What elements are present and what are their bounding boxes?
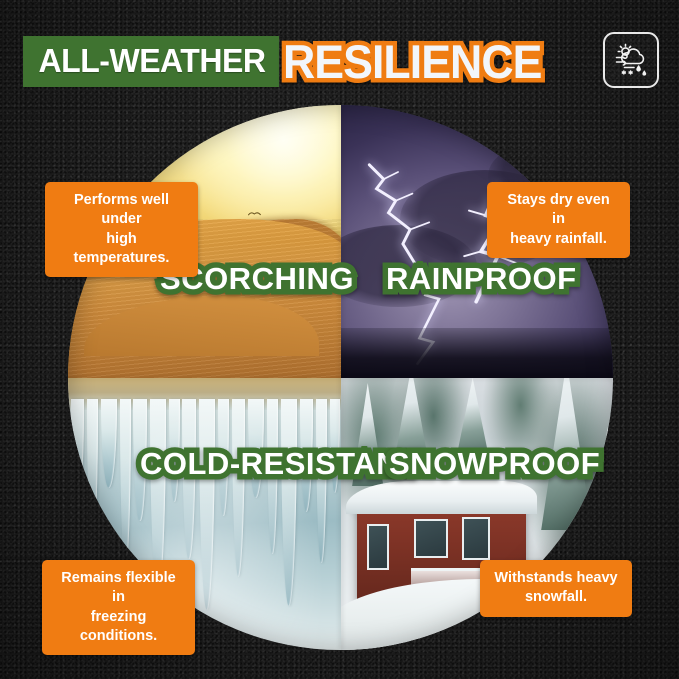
cabin-window [414, 519, 448, 558]
cabin-window [367, 524, 389, 569]
callout-snowproof: Withstands heavy snowfall. [480, 560, 632, 617]
header-title-secondary: RESILIENCE [283, 38, 541, 85]
infographic-canvas: ALL-WEATHER RESILIENCE [0, 0, 679, 679]
quadrant-label-rainproof: RAINPROOF [386, 263, 577, 294]
storm-treeline [341, 328, 614, 377]
weather-badge [603, 32, 659, 88]
callout-scorching: Performs well under high temperatures. [45, 182, 198, 277]
cabin-snow-roof [346, 481, 537, 514]
quadrant-label-cold-resistant: COLD-RESISTANT [140, 448, 419, 479]
quadrant-label-snowproof: SNOWPROOF [389, 448, 600, 479]
sun-cloud-rain-snow-wind-icon [611, 40, 651, 80]
header-title-primary: ALL-WEATHER [23, 36, 279, 87]
header-banner: ALL-WEATHER RESILIENCE [23, 32, 659, 90]
callout-rainproof: Stays dry even in heavy rainfall. [487, 182, 630, 258]
bird-silhouette-icon [248, 203, 261, 208]
cabin-window [462, 517, 491, 560]
callout-cold-resistant: Remains flexible in freezing conditions. [42, 560, 195, 655]
